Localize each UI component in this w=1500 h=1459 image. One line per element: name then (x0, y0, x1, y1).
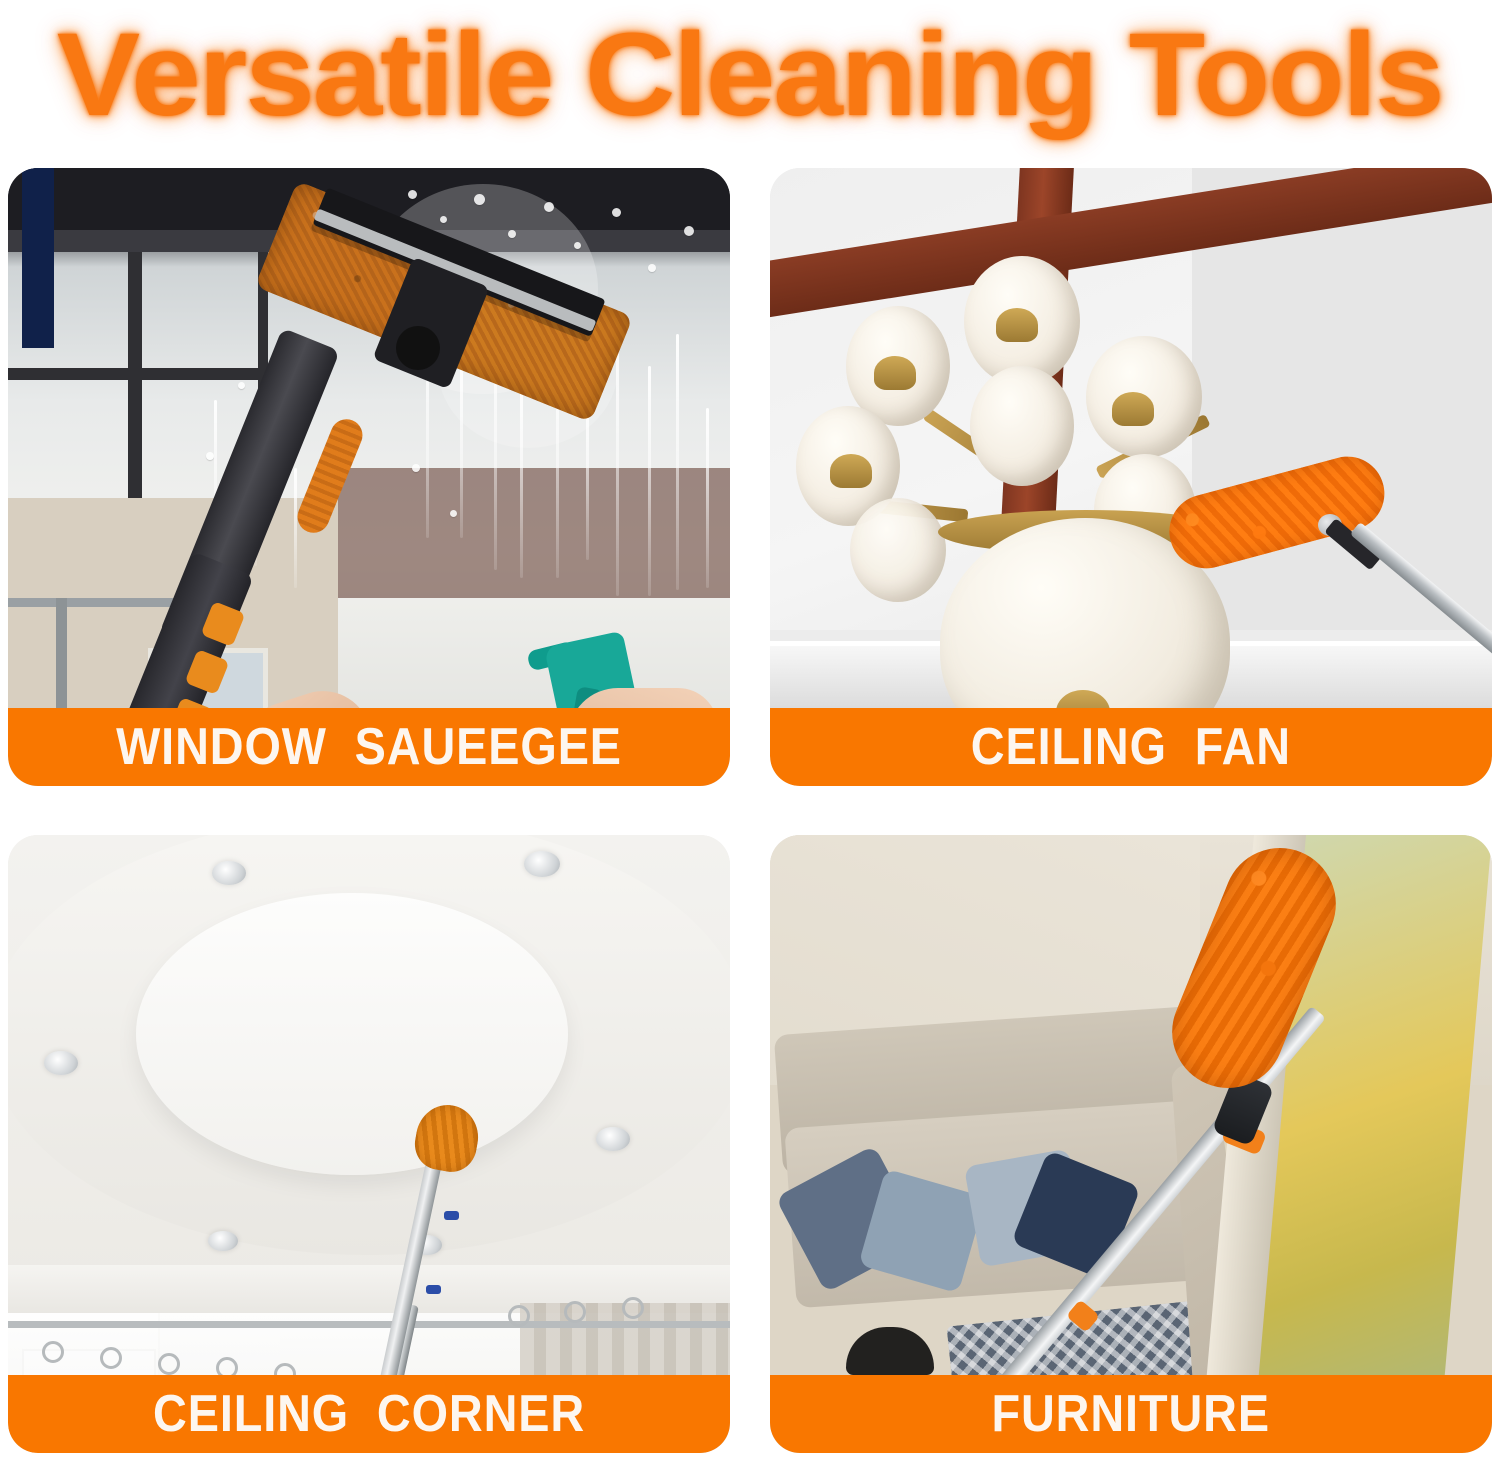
chandelier-fitting (830, 454, 872, 488)
curtain-ring (42, 1341, 64, 1363)
panel-label-window-squeegee: WINDOW SAUEEGEE (116, 721, 622, 773)
recessed-downlight (212, 861, 246, 885)
panel-label-furniture: FURNITURE (992, 1388, 1270, 1440)
blue-post (22, 168, 54, 348)
chandelier-shade (970, 366, 1074, 486)
panel-ceiling-fan[interactable]: CEILING FAN (770, 168, 1492, 786)
photo-ceiling-fan (770, 168, 1492, 786)
chandelier-shade (850, 498, 946, 602)
recessed-downlight (44, 1051, 78, 1075)
photo-window-squeegee (8, 168, 730, 786)
recessed-downlight (524, 851, 560, 877)
squeegee-pivot-joint (396, 326, 440, 370)
panel-label-bar: CEILING FAN (770, 708, 1492, 786)
panel-label-ceiling-fan: CEILING FAN (971, 721, 1291, 773)
feature-panel-grid: WINDOW SAUEEGEE (8, 168, 1492, 1453)
panel-label-bar: CEILING CORNER (8, 1375, 730, 1453)
page-title-banner: Versatile Cleaning Tools (0, 0, 1500, 150)
curtain-ring (564, 1301, 586, 1323)
chandelier-fitting (1112, 392, 1154, 426)
photo-ceiling-corner (8, 835, 730, 1453)
page-title: Versatile Cleaning Tools (57, 16, 1443, 134)
panel-label-bar: FURNITURE (770, 1375, 1492, 1453)
ceiling-dome-inner (136, 893, 568, 1175)
panel-window-squeegee[interactable]: WINDOW SAUEEGEE (8, 168, 730, 786)
recessed-downlight (208, 1231, 238, 1251)
pole-joint-marker (444, 1211, 459, 1220)
panel-label-bar: WINDOW SAUEEGEE (8, 708, 730, 786)
curtain-ring (508, 1305, 530, 1327)
curtain-ring (622, 1297, 644, 1319)
pole-joint-marker (426, 1285, 441, 1294)
curtain-ring (100, 1347, 122, 1369)
recessed-downlight (596, 1127, 630, 1151)
chandelier-fitting (996, 308, 1038, 342)
chandelier-fitting (874, 356, 916, 390)
person-hair (846, 1327, 934, 1375)
panel-ceiling-corner[interactable]: CEILING CORNER (8, 835, 730, 1453)
curtain-ring (158, 1353, 180, 1375)
panel-furniture[interactable]: FURNITURE (770, 835, 1492, 1453)
panel-label-ceiling-corner: CEILING CORNER (153, 1388, 585, 1440)
photo-furniture (770, 835, 1492, 1453)
curtain-rod (8, 1321, 730, 1328)
